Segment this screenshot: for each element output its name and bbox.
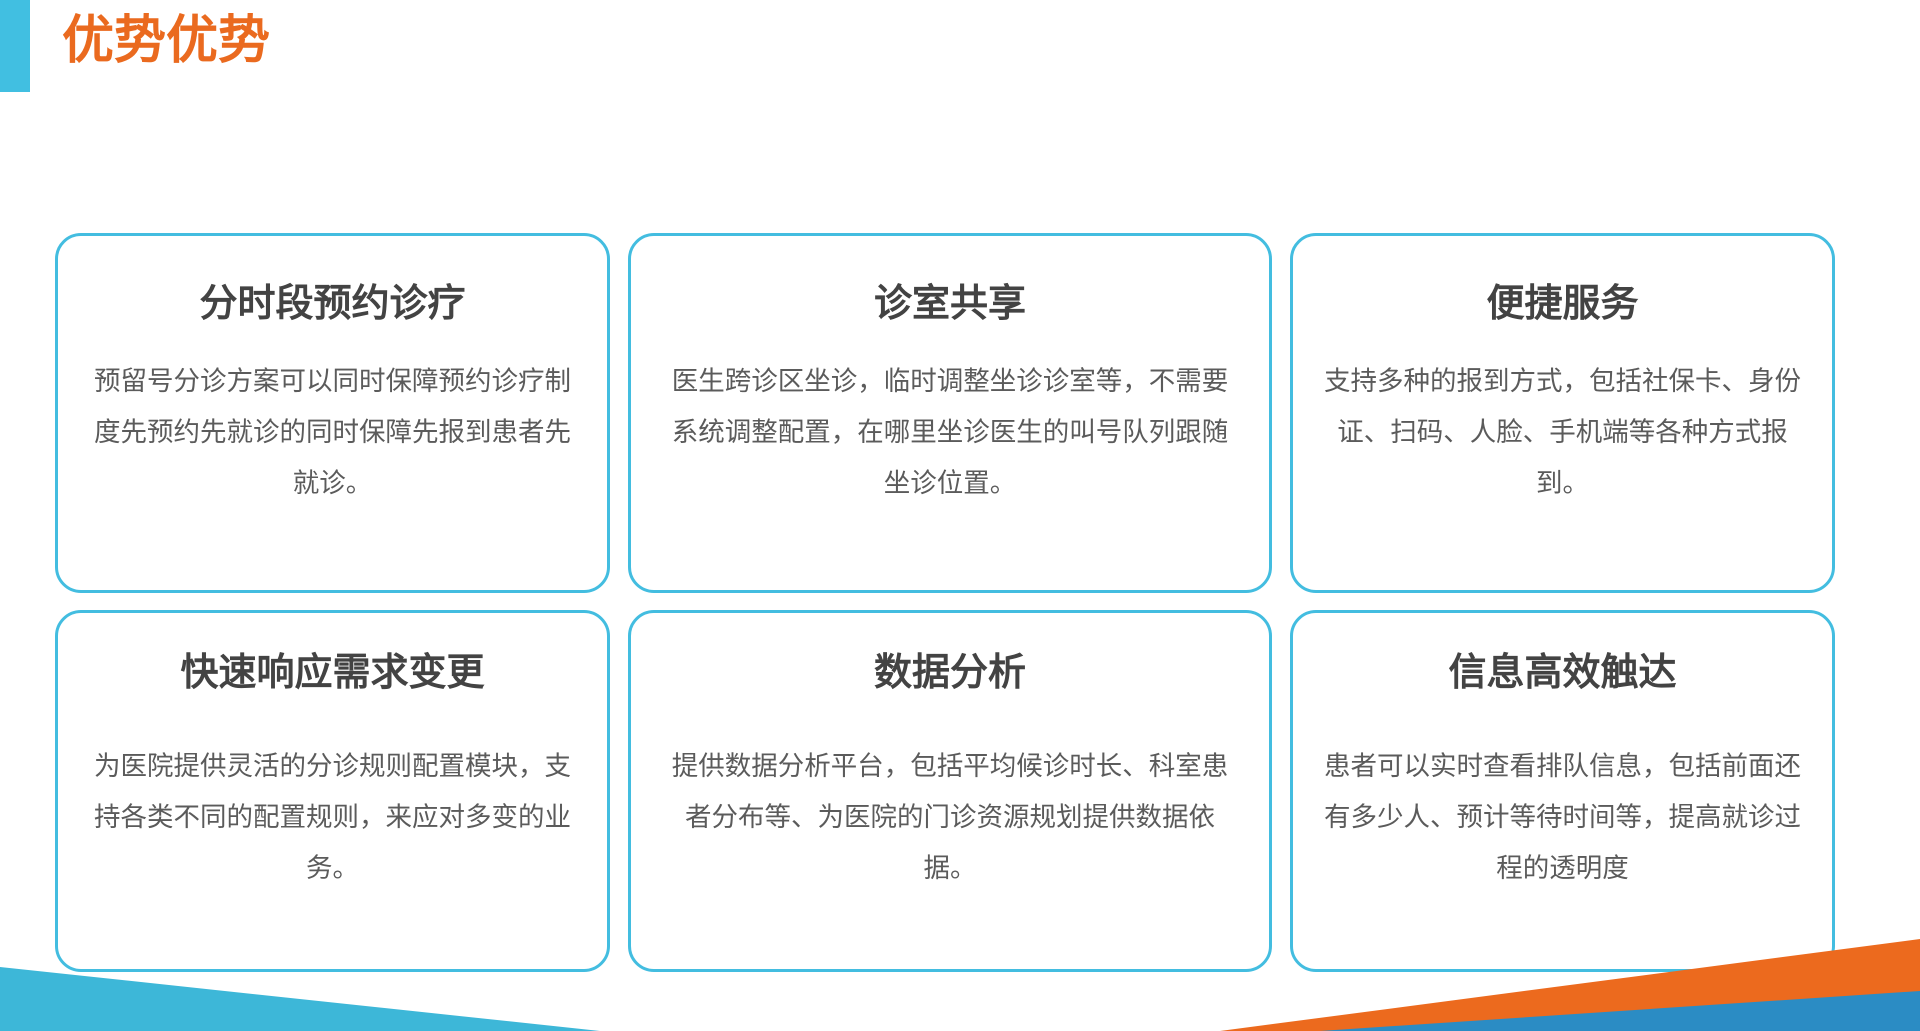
feature-card-4[interactable]: 快速响应需求变更 为医院提供灵活的分诊规则配置模块，支持各类不同的配置规则，来应… xyxy=(55,610,610,972)
feature-card-5-title: 数据分析 xyxy=(874,649,1026,695)
feature-card-6[interactable]: 信息高效触达 患者可以实时查看排队信息，包括前面还有多少人、预计等待时间等，提高… xyxy=(1290,610,1835,972)
page-title: 优势优势 xyxy=(62,6,270,76)
feature-card-4-title: 快速响应需求变更 xyxy=(180,649,484,695)
feature-card-2[interactable]: 诊室共享 医生跨诊区坐诊，临时调整坐诊诊室等，不需要系统调整配置，在哪里坐诊医生… xyxy=(628,233,1272,593)
feature-card-5-body: 提供数据分析平台，包括平均候诊时长、科室患者分布等、为医院的门诊资源规划提供数据… xyxy=(659,741,1241,894)
feature-card-1[interactable]: 分时段预约诊疗 预留号分诊方案可以同时保障预约诊疗制度先预约先就诊的同时保障先报… xyxy=(55,233,610,593)
feature-card-5[interactable]: 数据分析 提供数据分析平台，包括平均候诊时长、科室患者分布等、为医院的门诊资源规… xyxy=(628,610,1272,972)
feature-card-6-title: 信息高效触达 xyxy=(1448,649,1676,695)
feature-card-3-body: 支持多种的报到方式，包括社保卡、身份证、扫码、人脸、手机端等各种方式报到。 xyxy=(1321,356,1804,509)
slide-root: 优势优势 分时段预约诊疗 预留号分诊方案可以同时保障预约诊疗制度先预约先就诊的同… xyxy=(0,0,1920,1031)
feature-card-2-title: 诊室共享 xyxy=(874,280,1026,326)
header-accent-bar xyxy=(0,0,30,92)
blue-wedge xyxy=(1320,991,1920,1031)
feature-card-grid: 分时段预约诊疗 预留号分诊方案可以同时保障预约诊疗制度先预约先就诊的同时保障先报… xyxy=(55,233,1835,973)
slide-header: 优势优势 xyxy=(0,0,1920,100)
feature-card-6-body: 患者可以实时查看排队信息，包括前面还有多少人、预计等待时间等，提高就诊过程的透明… xyxy=(1321,741,1804,894)
feature-card-2-body: 医生跨诊区坐诊，临时调整坐诊诊室等，不需要系统调整配置，在哪里坐诊医生的叫号队列… xyxy=(659,356,1241,509)
feature-card-3-title: 便捷服务 xyxy=(1486,280,1638,326)
feature-card-1-title: 分时段预约诊疗 xyxy=(199,280,465,326)
feature-card-1-body: 预留号分诊方案可以同时保障预约诊疗制度先预约先就诊的同时保障先报到患者先就诊。 xyxy=(86,356,579,509)
feature-card-4-body: 为医院提供灵活的分诊规则配置模块，支持各类不同的配置规则，来应对多变的业务。 xyxy=(86,741,579,894)
feature-card-3[interactable]: 便捷服务 支持多种的报到方式，包括社保卡、身份证、扫码、人脸、手机端等各种方式报… xyxy=(1290,233,1835,593)
